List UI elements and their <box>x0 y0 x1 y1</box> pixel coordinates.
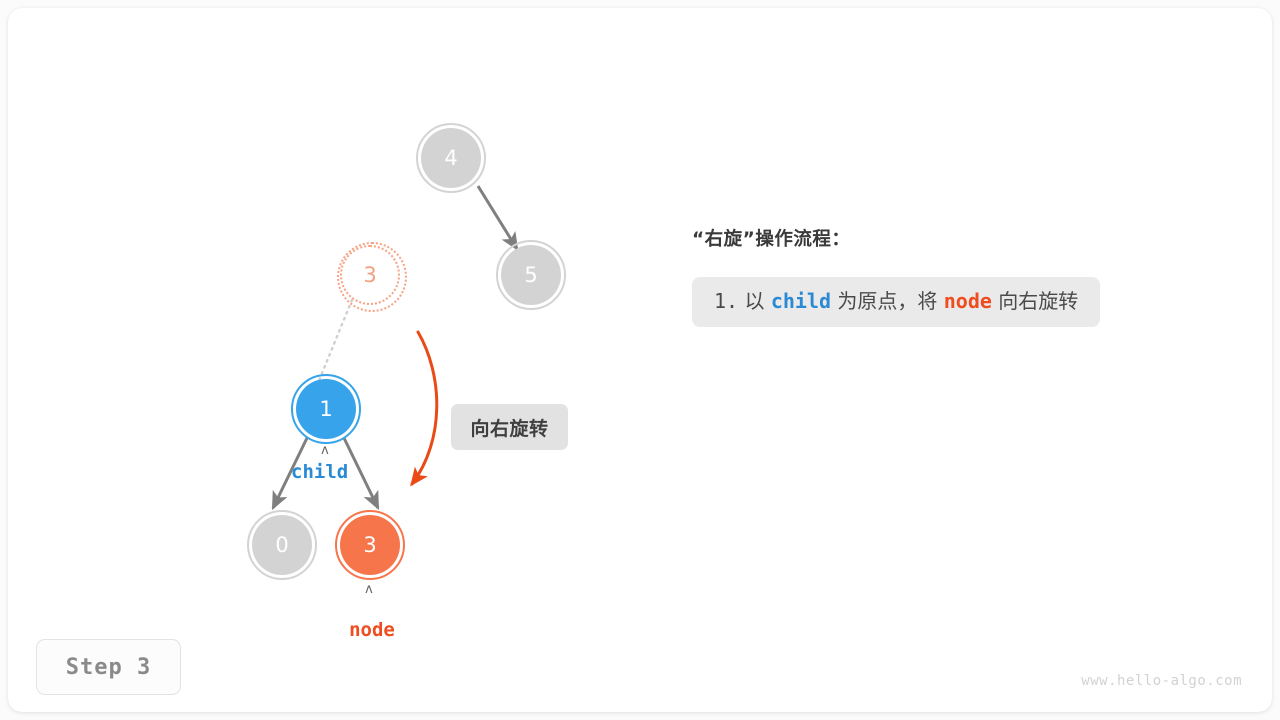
step-badge: Step 3 <box>36 639 181 695</box>
edges-layer <box>0 0 1280 720</box>
edge-ghost3-to-1 <box>318 300 352 383</box>
node-pointer-caret: ʌ <box>365 583 373 596</box>
node-pointer-label: node <box>342 600 402 660</box>
node-value: 5 <box>524 265 537 286</box>
node-value: 0 <box>275 535 288 556</box>
diagram-canvas: 4 5 3 1 0 3 ʌ child ʌ node 向右旋转 “右旋”操作流程… <box>0 0 1280 720</box>
tree-node-0[interactable]: 0 <box>252 515 312 575</box>
tree-node-4[interactable]: 4 <box>421 128 481 188</box>
step-text-middle: 为原点，将 <box>837 289 937 313</box>
tree-node-3[interactable]: 3 <box>340 515 400 575</box>
node-value: 3 <box>363 265 376 286</box>
node-value: 1 <box>319 399 332 420</box>
ghost-node-3: 3 <box>340 245 400 305</box>
tree-node-5[interactable]: 5 <box>501 245 561 305</box>
keyword-node: node <box>944 289 992 313</box>
rotate-arrow <box>412 332 437 484</box>
step-index: 1. <box>714 289 738 313</box>
node-value: 3 <box>363 535 376 556</box>
edge-4-to-5 <box>478 186 517 249</box>
explanation-panel: “右旋”操作流程： 1. 以 child 为原点，将 node 向右旋转 <box>692 225 1212 327</box>
step-text-after: 向右旋转 <box>998 289 1078 313</box>
child-pointer-caret: ʌ <box>321 444 329 457</box>
step-description-box: 1. 以 child 为原点，将 node 向右旋转 <box>692 277 1100 327</box>
keyword-child: child <box>771 289 831 313</box>
step-text-before: 以 <box>744 289 764 313</box>
watermark: www.hello-algo.com <box>1081 673 1242 689</box>
edge-1-to-3 <box>344 438 378 508</box>
tree-node-1[interactable]: 1 <box>296 379 356 439</box>
rotate-direction-tag: 向右旋转 <box>451 404 568 450</box>
child-pointer-label: child <box>291 461 348 483</box>
panel-title: “右旋”操作流程： <box>692 225 1212 251</box>
node-value: 4 <box>444 148 457 169</box>
